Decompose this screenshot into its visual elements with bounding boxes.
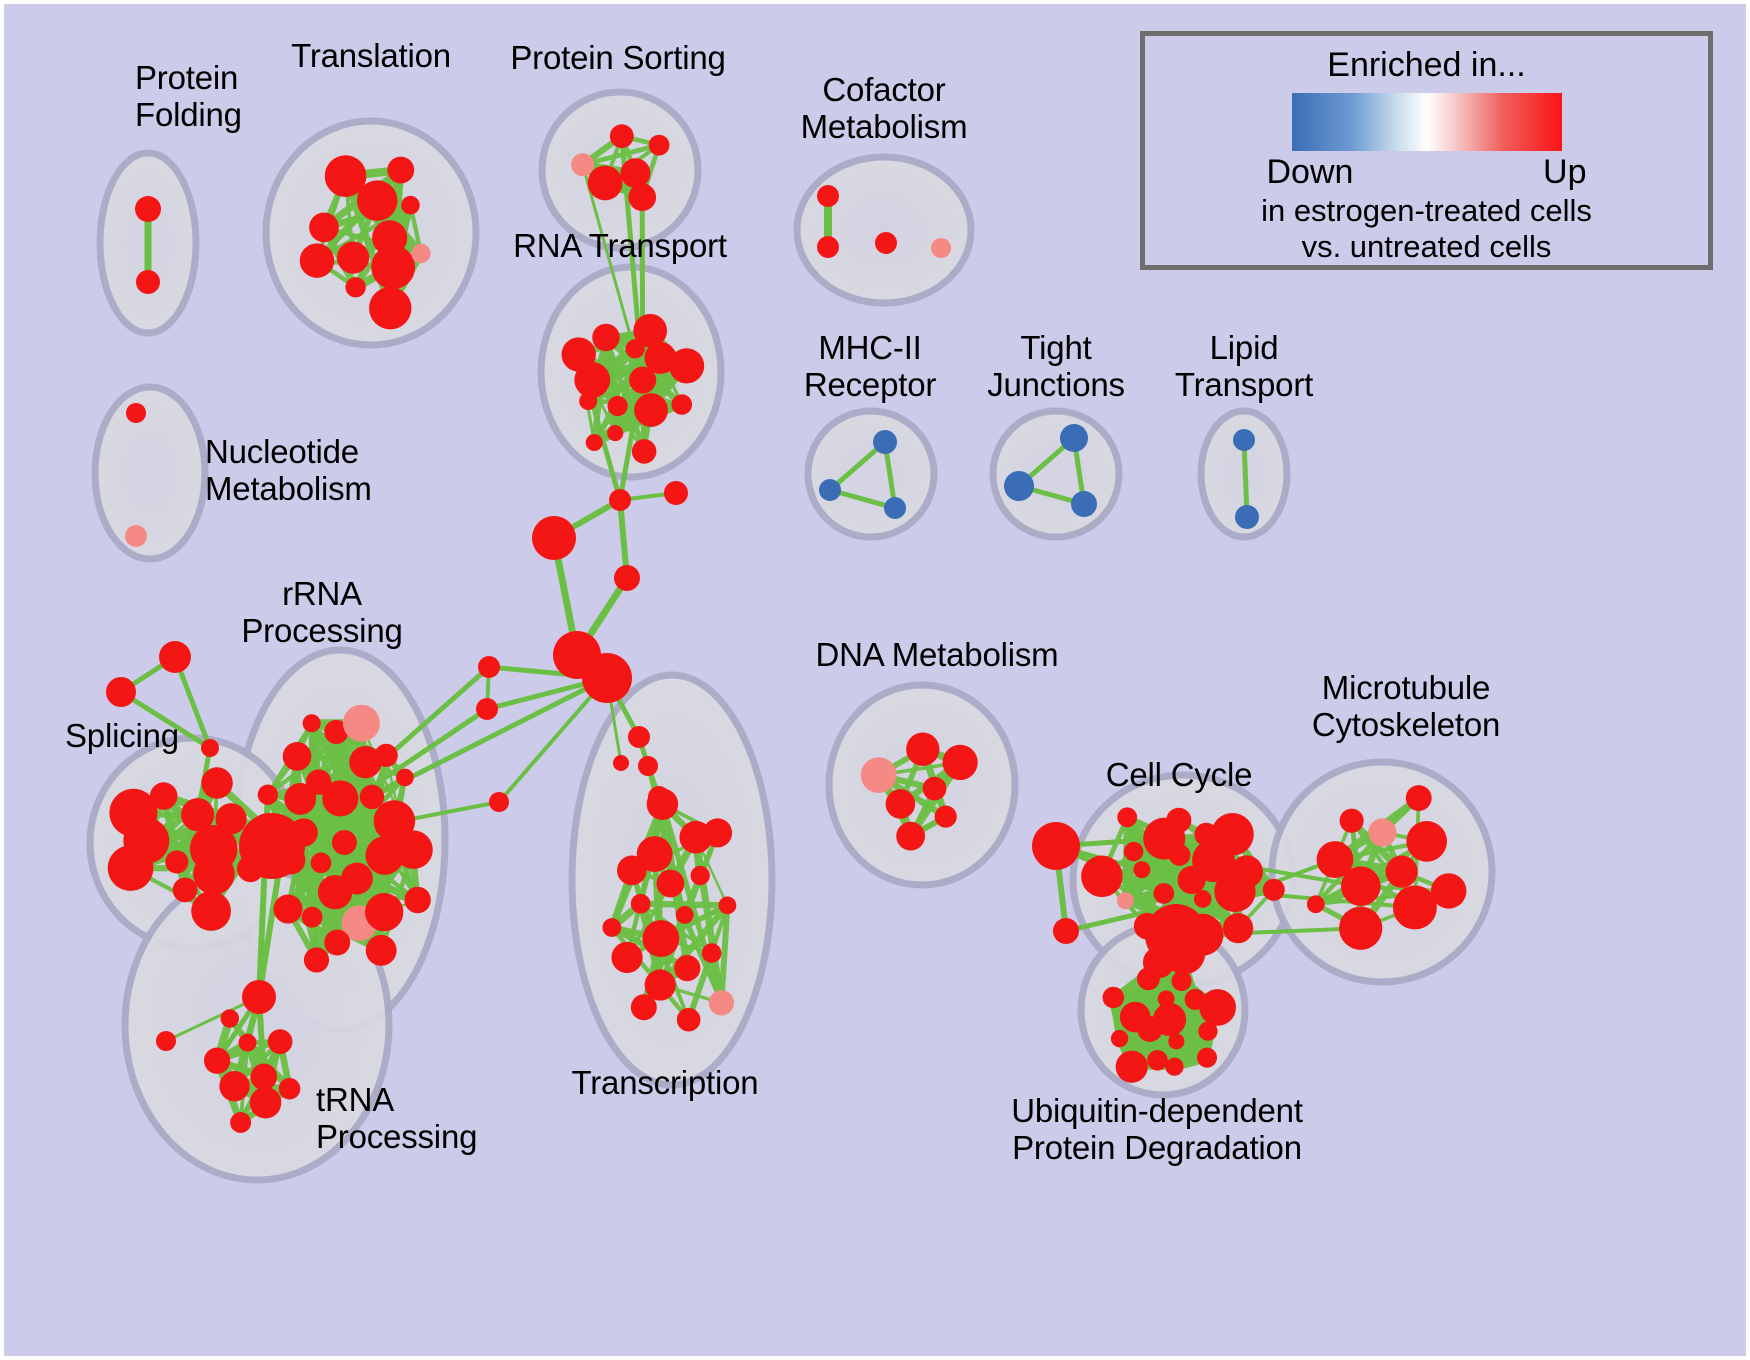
gene-set-node[interactable] (387, 157, 414, 184)
gene-set-node[interactable] (242, 980, 276, 1014)
gene-set-node[interactable] (375, 744, 398, 767)
gene-set-node[interactable] (817, 185, 839, 207)
gene-set-node[interactable] (703, 818, 732, 847)
gene-set-node[interactable] (819, 479, 841, 501)
gene-set-node[interactable] (136, 270, 160, 294)
gene-set-node[interactable] (719, 896, 737, 914)
gene-set-node[interactable] (173, 878, 198, 903)
gene-set-node[interactable] (1307, 895, 1325, 913)
legend-title: Enriched in... (1327, 46, 1525, 85)
gene-set-node[interactable] (396, 769, 414, 787)
gene-set-node[interactable] (1368, 818, 1396, 846)
gene-set-node[interactable] (401, 196, 420, 215)
gene-set-node[interactable] (1053, 918, 1079, 944)
gene-set-node[interactable] (1317, 841, 1354, 878)
gene-set-node[interactable] (343, 705, 380, 742)
gene-set-node[interactable] (669, 348, 704, 383)
gene-set-node[interactable] (817, 236, 839, 258)
gene-set-node[interactable] (657, 870, 685, 898)
gene-set-node[interactable] (611, 942, 642, 973)
gene-set-node[interactable] (571, 153, 594, 176)
gene-set-node[interactable] (1194, 890, 1212, 908)
gene-set-node[interactable] (201, 739, 219, 757)
gene-set-node[interactable] (532, 516, 576, 560)
gene-set-node[interactable] (628, 726, 650, 748)
gene-set-node[interactable] (300, 243, 335, 278)
cluster-label-nucleotide-metabolism: Nucleotide Metabolism (205, 434, 372, 508)
gene-set-node[interactable] (1116, 1051, 1148, 1083)
gene-set-node[interactable] (592, 324, 619, 351)
gene-set-node[interactable] (582, 653, 632, 703)
gene-set-node[interactable] (631, 994, 657, 1020)
gene-set-node[interactable] (648, 786, 670, 808)
gene-set-node[interactable] (478, 656, 500, 678)
gene-set-node[interactable] (1230, 855, 1263, 888)
gene-set-node[interactable] (672, 394, 693, 415)
gene-set-node[interactable] (1145, 904, 1207, 966)
cluster-label-protein-sorting: Protein Sorting (510, 40, 725, 77)
gene-set-node[interactable] (411, 244, 430, 263)
gene-set-node[interactable] (1233, 429, 1255, 451)
gene-set-node[interactable] (404, 887, 430, 913)
gene-set-node[interactable] (873, 430, 897, 454)
cluster-hull-nucleotide-metabolism[interactable] (95, 387, 205, 559)
gene-set-node[interactable] (165, 850, 188, 873)
gene-set-node[interactable] (691, 866, 710, 885)
cluster-label-rna-transport: RNA Transport (513, 228, 727, 265)
gene-set-node[interactable] (1197, 1048, 1217, 1068)
gene-set-node[interactable] (219, 1071, 249, 1101)
cluster-label-trna-processing: tRNA Processing (316, 1082, 477, 1156)
gene-set-node[interactable] (337, 241, 369, 273)
gene-set-node[interactable] (476, 698, 498, 720)
gene-set-node[interactable] (204, 1047, 230, 1073)
gene-set-node[interactable] (609, 489, 631, 511)
gene-set-node[interactable] (1111, 1030, 1128, 1047)
cluster-label-protein-folding: Protein Folding (135, 60, 242, 134)
cluster-label-tight-junctions: Tight Junctions (987, 330, 1125, 404)
legend-panel: Enriched in... Down Up in estrogen-treat… (1140, 31, 1713, 270)
gene-set-node[interactable] (631, 894, 651, 914)
gene-set-node[interactable] (1071, 491, 1097, 517)
gene-set-node[interactable] (702, 943, 722, 963)
gene-set-node[interactable] (607, 425, 623, 441)
gene-set-node[interactable] (633, 314, 667, 348)
gene-set-node[interactable] (1117, 892, 1134, 909)
gene-set-node[interactable] (239, 1034, 257, 1052)
gene-set-node[interactable] (250, 1063, 277, 1090)
gene-set-node[interactable] (709, 990, 734, 1015)
cluster-label-cofactor-metabolism: Cofactor Metabolism (801, 72, 968, 146)
gene-set-node[interactable] (1406, 821, 1447, 862)
gene-set-node[interactable] (1081, 856, 1123, 898)
gene-set-node[interactable] (106, 677, 136, 707)
gene-set-node[interactable] (1235, 505, 1259, 529)
gene-set-node[interactable] (1153, 883, 1174, 904)
gene-set-node[interactable] (886, 789, 916, 819)
cluster-hull-cofactor-metabolism[interactable] (797, 157, 971, 303)
cluster-label-transcription: Transcription (572, 1065, 759, 1102)
gene-set-node[interactable] (1103, 987, 1124, 1008)
gene-set-node[interactable] (193, 853, 235, 895)
gene-set-node[interactable] (562, 337, 596, 371)
gene-set-node[interactable] (617, 856, 647, 886)
gene-set-node[interactable] (896, 822, 925, 851)
gene-set-node[interactable] (1117, 807, 1137, 827)
gene-set-node[interactable] (394, 830, 433, 869)
legend-end-labels: Down Up (1267, 153, 1587, 192)
cluster-label-translation: Translation (291, 38, 451, 75)
gene-set-node[interactable] (283, 742, 312, 771)
gene-set-node[interactable] (1223, 913, 1253, 943)
gene-set-node[interactable] (109, 789, 157, 837)
gene-set-node[interactable] (309, 213, 339, 243)
gene-set-node[interactable] (579, 392, 597, 410)
gene-set-node[interactable] (1032, 822, 1080, 870)
cluster-label-rrna-processing: rRNA Processing (241, 576, 402, 650)
gene-set-node[interactable] (360, 785, 384, 809)
gene-set-node[interactable] (935, 806, 957, 828)
gene-set-node[interactable] (332, 830, 357, 855)
gene-set-node[interactable] (311, 852, 332, 873)
legend-color-gradient-bar (1292, 93, 1562, 150)
gene-set-node[interactable] (1124, 842, 1143, 861)
cluster-label-lipid-transport: Lipid Transport (1175, 330, 1313, 404)
gene-set-node[interactable] (250, 1087, 282, 1119)
gene-set-node[interactable] (371, 245, 415, 289)
gene-set-node[interactable] (649, 135, 670, 156)
gene-set-node[interactable] (1199, 989, 1236, 1026)
gene-set-node[interactable] (303, 714, 321, 732)
gene-set-node[interactable] (602, 918, 621, 937)
gene-set-node[interactable] (628, 183, 656, 211)
gene-set-node[interactable] (674, 955, 700, 981)
gene-set-node[interactable] (273, 895, 302, 924)
gene-set-node[interactable] (201, 767, 233, 799)
gene-set-node[interactable] (1158, 990, 1175, 1007)
gene-set-node[interactable] (1211, 813, 1254, 856)
gene-set-node[interactable] (125, 525, 147, 547)
gene-set-node[interactable] (1168, 1033, 1184, 1049)
gene-set-node[interactable] (634, 393, 668, 427)
legend-caption-line1: in estrogen-treated cells (1261, 194, 1592, 229)
gene-set-node[interactable] (1060, 424, 1088, 452)
gene-set-node[interactable] (284, 783, 316, 815)
cluster-label-microtubule-cytoskeleton: Microtubule Cytoskeleton (1312, 670, 1500, 744)
gene-set-node[interactable] (906, 733, 939, 766)
legend-low-label: Down (1267, 153, 1354, 192)
gene-set-node[interactable] (613, 755, 629, 771)
gene-set-node[interactable] (489, 792, 509, 812)
gene-set-node[interactable] (931, 238, 951, 258)
cluster-label-splicing: Splicing (65, 718, 179, 755)
gene-set-node[interactable] (1393, 885, 1437, 929)
gene-set-node[interactable] (156, 1031, 176, 1051)
gene-set-node[interactable] (221, 1009, 239, 1027)
gene-set-node[interactable] (239, 813, 305, 879)
gene-set-node[interactable] (1339, 907, 1382, 950)
gene-set-node[interactable] (1431, 873, 1466, 908)
gene-set-node[interactable] (638, 756, 658, 776)
gene-set-node[interactable] (942, 745, 977, 780)
gene-set-node[interactable] (586, 434, 603, 451)
gene-set-node[interactable] (642, 920, 679, 957)
gene-set-node[interactable] (369, 287, 411, 329)
gene-set-node[interactable] (861, 757, 897, 793)
gene-set-node[interactable] (126, 403, 146, 423)
gene-set-node[interactable] (1120, 1002, 1151, 1033)
gene-set-node[interactable] (191, 891, 231, 931)
gene-set-node[interactable] (258, 785, 278, 805)
legend-high-label: Up (1543, 153, 1586, 192)
gene-set-node[interactable] (302, 907, 323, 928)
gene-set-node[interactable] (1165, 1058, 1183, 1076)
enrichment-map-canvas: Protein FoldingTranslationProtein Sortin… (0, 0, 1750, 1360)
gene-set-node[interactable] (884, 497, 906, 519)
gene-set-node[interactable] (304, 947, 329, 972)
gene-set-node[interactable] (181, 798, 214, 831)
gene-set-node[interactable] (365, 893, 403, 931)
gene-set-node[interactable] (135, 196, 161, 222)
gene-set-node[interactable] (325, 155, 367, 197)
gene-set-node[interactable] (1340, 809, 1364, 833)
gene-set-node[interactable] (1263, 879, 1285, 901)
gene-set-node[interactable] (108, 845, 154, 891)
gene-set-node[interactable] (279, 1078, 301, 1100)
cluster-hull-mhc-ii-receptor[interactable] (808, 411, 934, 537)
gene-set-node[interactable] (1386, 856, 1418, 888)
gene-set-node[interactable] (324, 930, 350, 956)
gene-set-node[interactable] (632, 439, 657, 464)
gene-set-node[interactable] (366, 935, 397, 966)
gene-set-node[interactable] (664, 481, 688, 505)
gene-set-node[interactable] (621, 158, 651, 188)
gene-set-node[interactable] (1133, 861, 1150, 878)
gene-set-node[interactable] (268, 1029, 293, 1054)
gene-set-node[interactable] (610, 124, 634, 148)
gene-set-node[interactable] (345, 277, 365, 297)
gene-set-node[interactable] (230, 1112, 251, 1133)
gene-set-node[interactable] (677, 1008, 701, 1032)
gene-set-node[interactable] (216, 803, 247, 834)
cluster-label-cell-cycle: Cell Cycle (1106, 757, 1253, 794)
gene-set-node[interactable] (676, 906, 694, 924)
gene-set-node[interactable] (588, 166, 623, 201)
cluster-label-dna-metabolism: DNA Metabolism (816, 637, 1059, 674)
gene-set-node[interactable] (1166, 808, 1191, 833)
gene-set-node[interactable] (318, 875, 352, 909)
gene-set-node[interactable] (875, 232, 897, 254)
legend-caption-line2: vs. untreated cells (1302, 230, 1552, 265)
cluster-label-ubiquitin-protein-degradation: Ubiquitin-dependent Protein Degradation (1011, 1093, 1303, 1167)
gene-set-node[interactable] (1172, 971, 1192, 991)
gene-set-node[interactable] (614, 565, 640, 591)
gene-set-node[interactable] (159, 641, 191, 673)
gene-set-node[interactable] (923, 777, 947, 801)
gene-set-node[interactable] (1406, 785, 1432, 811)
cluster-label-mhc-ii-receptor: MHC-II Receptor (804, 330, 936, 404)
gene-set-node[interactable] (1004, 471, 1034, 501)
gene-set-node[interactable] (607, 396, 627, 416)
gene-set-node[interactable] (1147, 1050, 1168, 1071)
